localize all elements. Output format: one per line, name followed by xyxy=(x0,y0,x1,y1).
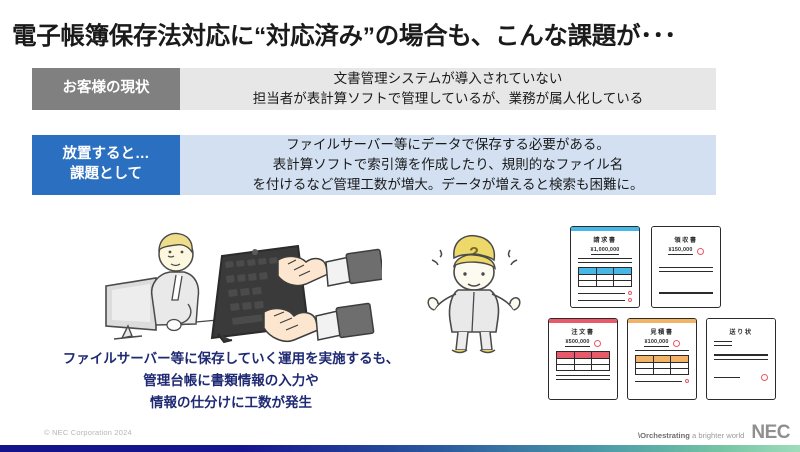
document-amount-row: ¥150,000 xyxy=(652,247,720,255)
document-amount: ¥150,000 xyxy=(668,247,692,255)
document-footer-lower xyxy=(707,374,775,381)
document-card-quotation: 見積書 ¥100,000 xyxy=(627,318,697,400)
info-row-body-current-state: 文書管理システムが導入されていない 担当者が表計算ソフトで管理しているが、業務が… xyxy=(180,68,716,110)
info-row-body-line: 表計算ソフトで索引簿を作成したり、規則的なファイル名 xyxy=(273,155,623,175)
document-table xyxy=(556,351,610,371)
info-row-body-line: ファイルサーバー等にデータで保存する必要がある。 xyxy=(286,135,610,155)
document-table-row xyxy=(557,364,609,370)
footer-gradient-bar xyxy=(0,445,800,452)
caption-line: 管理台帳に書類情報の入力や xyxy=(36,370,426,392)
document-amount: ¥100,000 xyxy=(644,339,668,347)
document-footer-lower xyxy=(652,292,720,293)
document-card-shipping-invoice: 送り状 xyxy=(706,318,776,400)
info-row-label-line: 課題として xyxy=(70,165,142,185)
document-footer xyxy=(628,379,696,383)
document-footer-line xyxy=(578,291,632,295)
caption-line: ファイルサーバー等に保存していく運用を実施するも、 xyxy=(36,348,426,370)
info-row-body-risk: ファイルサーバー等にデータで保存する必要がある。 表計算ソフトで索引簿を作成した… xyxy=(180,135,716,195)
document-footer xyxy=(571,291,639,302)
info-row-body-line: 文書管理システムが導入されていない xyxy=(334,69,563,89)
info-row-current-state: お客様の現状 文書管理システムが導入されていない 担当者が表計算ソフトで管理して… xyxy=(32,68,716,110)
nec-logo: NEC xyxy=(751,424,790,442)
document-amount-row: ¥100,000 xyxy=(628,339,696,347)
document-title: 見積書 xyxy=(628,327,696,336)
document-footer-line xyxy=(635,379,689,383)
document-footer-line xyxy=(714,374,768,381)
brand-tagline-mark: \Orchestrating xyxy=(638,431,690,440)
copyright-notice: © NEC Corporation 2024 xyxy=(44,428,132,437)
document-footer-line xyxy=(714,354,768,355)
document-table xyxy=(578,267,632,287)
document-amount: ¥1,000,000 xyxy=(591,247,620,255)
document-card-receipt: 領収書 ¥150,000 xyxy=(651,226,721,308)
document-accent-bar xyxy=(628,319,696,323)
page-title: 電子帳簿保存法対応に“対応済み”の場合も、こんな課題が･･･ xyxy=(12,17,676,52)
stamp-icon xyxy=(628,291,632,295)
document-rule xyxy=(578,262,632,263)
document-accent-bar xyxy=(652,227,720,231)
info-row-body-line: 担当者が表計算ソフトで管理しているが、業務が属人化している xyxy=(253,89,643,109)
document-table-row xyxy=(579,280,631,286)
document-footer-line xyxy=(578,298,632,302)
brand-lockup: \Orchestrating a brighter world NEC xyxy=(638,424,790,442)
document-amount-row: ¥1,000,000 xyxy=(571,247,639,255)
document-row-bottom: 注文書 ¥500,000 見積書 ¥100,000 xyxy=(548,318,776,400)
document-footer-line xyxy=(714,359,768,360)
document-footer-mid xyxy=(707,354,775,359)
document-accent-bar xyxy=(549,319,617,323)
caption-line: 情報の仕分けに工数が発生 xyxy=(36,392,426,414)
document-title: 請求書 xyxy=(571,235,639,244)
document-footer-line xyxy=(714,345,768,346)
person-at-monitor-with-keyboard-icon xyxy=(92,226,382,346)
document-table xyxy=(635,355,689,375)
document-table-row xyxy=(636,368,688,374)
document-footer xyxy=(549,375,617,380)
document-footer-line xyxy=(659,271,713,272)
document-accent-bar xyxy=(707,319,775,323)
stamp-icon xyxy=(594,340,601,347)
document-title: 領収書 xyxy=(652,235,720,244)
stamp-icon xyxy=(685,379,689,383)
document-footer xyxy=(652,267,720,272)
stamp-icon xyxy=(628,298,632,302)
document-amount-row: ¥500,000 xyxy=(549,339,617,347)
document-cluster: 請求書 ¥1,000,000 領収書 ¥150,000 xyxy=(548,226,792,404)
document-card-invoice: 請求書 ¥1,000,000 xyxy=(570,226,640,308)
info-row-label-line: 放置すると… xyxy=(63,145,150,165)
document-row-top: 請求書 ¥1,000,000 領収書 ¥150,000 xyxy=(570,226,721,308)
document-accent-bar xyxy=(571,227,639,231)
info-row-label-risk: 放置すると… 課題として xyxy=(32,135,180,195)
brand-tagline-rest: a brighter world xyxy=(690,431,744,440)
document-amount: ¥500,000 xyxy=(565,339,589,347)
info-row-label-current-state: お客様の現状 xyxy=(32,68,180,110)
document-footer-line xyxy=(714,341,768,342)
stamp-icon xyxy=(697,248,704,255)
document-rule xyxy=(635,350,689,351)
document-title: 注文書 xyxy=(549,327,617,336)
document-footer-line xyxy=(556,379,610,380)
document-footer-line xyxy=(659,292,713,293)
info-row-body-line: を付けるなど管理工数が増大。データが増えると検索も困難に。 xyxy=(252,175,643,195)
info-row-label-line: お客様の現状 xyxy=(63,79,150,99)
document-footer-line xyxy=(659,267,713,268)
document-title: 送り状 xyxy=(707,327,775,336)
document-footer xyxy=(707,341,775,346)
stamp-icon xyxy=(761,374,768,381)
stamp-icon xyxy=(673,340,680,347)
confused-person-shrugging-icon: ? xyxy=(418,228,533,356)
document-rule xyxy=(578,258,632,259)
info-row-risk: 放置すると… 課題として ファイルサーバー等にデータで保存する必要がある。 表計… xyxy=(32,135,716,195)
caption-text: ファイルサーバー等に保存していく運用を実施するも、 管理台帳に書類情報の入力や … xyxy=(36,348,426,414)
brand-tagline: \Orchestrating a brighter world xyxy=(638,431,744,442)
document-footer-line xyxy=(556,375,610,376)
document-card-purchase-order: 注文書 ¥500,000 xyxy=(548,318,618,400)
